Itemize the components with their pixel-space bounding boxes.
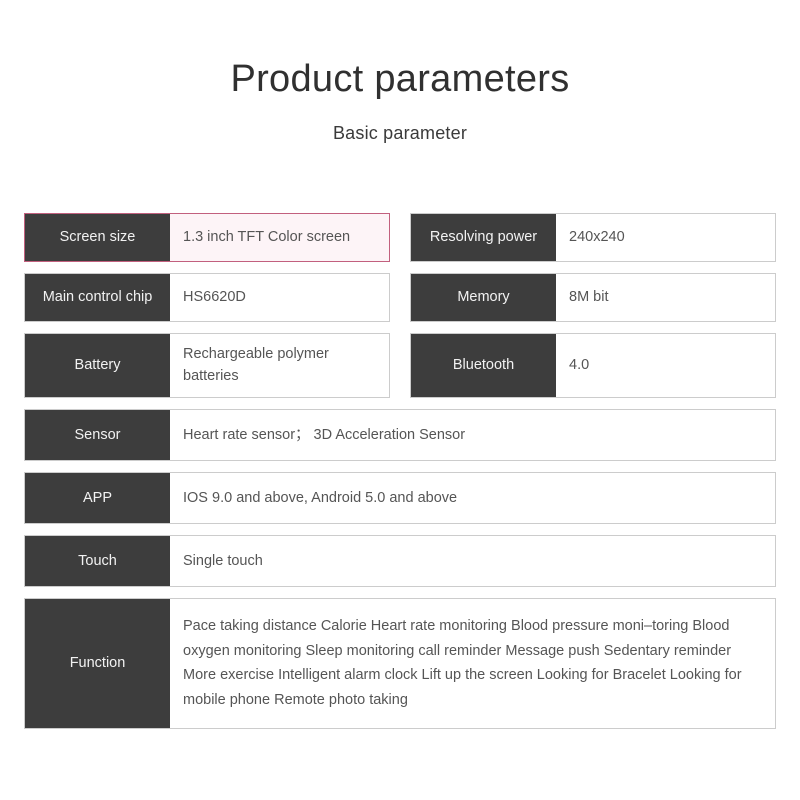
spec-row-function: Function Pace taking distance Calorie He… xyxy=(24,598,776,729)
spec-row-battery: Battery Rechargeable polymer batteries xyxy=(24,333,390,398)
spec-table: Screen size 1.3 inch TFT Color screen Re… xyxy=(24,213,776,740)
spec-grid: Screen size 1.3 inch TFT Color screen Re… xyxy=(24,213,776,740)
spec-value: 4.0 xyxy=(556,334,775,397)
spec-label: Touch xyxy=(25,536,170,586)
spec-label: Bluetooth xyxy=(411,334,556,397)
spec-row-resolving-power: Resolving power 240x240 xyxy=(410,213,776,262)
spec-label: Screen size xyxy=(25,214,170,261)
spec-value: HS6620D xyxy=(170,274,389,321)
spec-row-touch: Touch Single touch xyxy=(24,535,776,587)
spec-row-app: APP IOS 9.0 and above, Android 5.0 and a… xyxy=(24,472,776,524)
product-parameters-page: Product parameters Basic parameter Scree… xyxy=(0,0,800,800)
page-subtitle: Basic parameter xyxy=(0,102,800,144)
spec-row-sensor: Sensor Heart rate sensor； 3D Acceleratio… xyxy=(24,409,776,461)
spec-value: Single touch xyxy=(170,536,775,586)
spec-value: Rechargeable polymer batteries xyxy=(170,334,389,397)
spec-value: 240x240 xyxy=(556,214,775,261)
spec-row-memory: Memory 8M bit xyxy=(410,273,776,322)
spec-row-bluetooth: Bluetooth 4.0 xyxy=(410,333,776,398)
spec-value: Heart rate sensor； 3D Acceleration Senso… xyxy=(170,410,775,460)
spec-label: Main control chip xyxy=(25,274,170,321)
spec-value: 1.3 inch TFT Color screen xyxy=(170,214,389,261)
spec-row-screen-size: Screen size 1.3 inch TFT Color screen xyxy=(24,213,390,262)
spec-value: 8M bit xyxy=(556,274,775,321)
page-title: Product parameters xyxy=(0,58,800,102)
spec-label: Function xyxy=(25,599,170,728)
spec-value: IOS 9.0 and above, Android 5.0 and above xyxy=(170,473,775,523)
spec-label: APP xyxy=(25,473,170,523)
page-header: Product parameters Basic parameter xyxy=(0,0,800,144)
spec-row-main-control-chip: Main control chip HS6620D xyxy=(24,273,390,322)
spec-label: Memory xyxy=(411,274,556,321)
spec-value: Pace taking distance Calorie Heart rate … xyxy=(170,599,775,728)
spec-label: Battery xyxy=(25,334,170,397)
spec-label: Sensor xyxy=(25,410,170,460)
spec-label: Resolving power xyxy=(411,214,556,261)
